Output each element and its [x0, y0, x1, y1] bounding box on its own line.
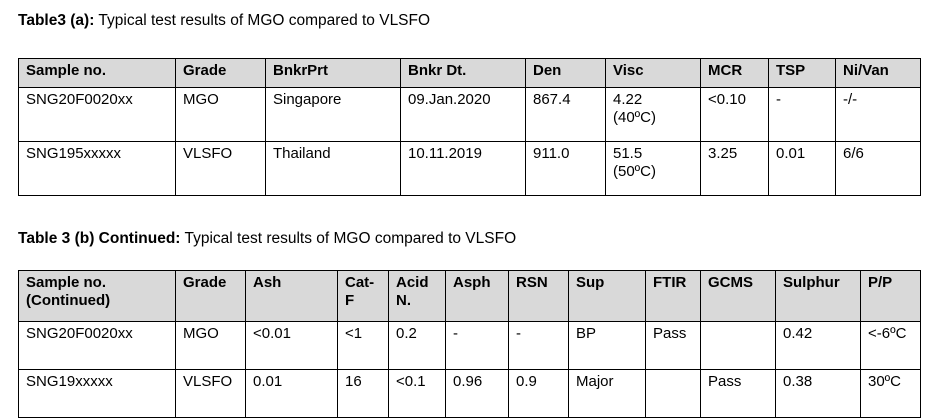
table-a-caption-text: Typical test results of MGO compared to … — [94, 12, 430, 29]
table-cell: BP — [569, 322, 646, 370]
table-cell: Major — [569, 370, 646, 418]
table-cell: 3.25 — [701, 142, 769, 196]
table-cell: 10.11.2019 — [401, 142, 526, 196]
table-cell: MGO — [176, 88, 266, 142]
table-cell: 16 — [338, 370, 389, 418]
table-b: Sample no. (Continued) Grade Ash Cat-F A… — [18, 270, 921, 418]
table-cell: Thailand — [266, 142, 401, 196]
table-cell: MGO — [176, 322, 246, 370]
table-cell: <0.1 — [389, 370, 446, 418]
table-b-header-row: Sample no. (Continued) Grade Ash Cat-F A… — [19, 271, 921, 322]
table-a: Sample no. Grade BnkrPrt Bnkr Dt. Den Vi… — [18, 58, 921, 196]
table-b-col-gcms: GCMS — [701, 271, 776, 322]
table-cell — [701, 322, 776, 370]
table-row: SNG19xxxxx VLSFO 0.01 16 <0.1 0.96 0.9 M… — [19, 370, 921, 418]
table-a-col-mcr: MCR — [701, 59, 769, 88]
table-b-col-asph: Asph — [446, 271, 509, 322]
table-cell: 0.2 — [389, 322, 446, 370]
table-cell: 911.0 — [526, 142, 606, 196]
table-cell: Singapore — [266, 88, 401, 142]
table-a-caption-label: Table3 (a): — [18, 12, 94, 29]
table-b-col-cat-f: Cat-F — [338, 271, 389, 322]
table-cell: SNG20F0020xx — [19, 322, 176, 370]
table-a-col-ni-van: Ni/Van — [836, 59, 921, 88]
table-cell: - — [446, 322, 509, 370]
table-a-header-row: Sample no. Grade BnkrPrt Bnkr Dt. Den Vi… — [19, 59, 921, 88]
table-row: SNG20F0020xx MGO Singapore 09.Jan.2020 8… — [19, 88, 921, 142]
table-cell: 0.38 — [776, 370, 861, 418]
table-cell: 0.96 — [446, 370, 509, 418]
table-cell: <0.10 — [701, 88, 769, 142]
table-cell: 30ºC — [861, 370, 921, 418]
table-b-col-sulphur: Sulphur — [776, 271, 861, 322]
table-cell: 0.01 — [769, 142, 836, 196]
table-row: SNG20F0020xx MGO <0.01 <1 0.2 - - BP Pas… — [19, 322, 921, 370]
table-cell — [646, 370, 701, 418]
table-cell: 6/6 — [836, 142, 921, 196]
table-cell: 09.Jan.2020 — [401, 88, 526, 142]
table-cell: <0.01 — [246, 322, 338, 370]
table-b-col-acid-n: Acid N. — [389, 271, 446, 322]
table-b-col-rsn: RSN — [509, 271, 569, 322]
table-cell: 867.4 — [526, 88, 606, 142]
table-cell: 0.01 — [246, 370, 338, 418]
table-cell: 0.42 — [776, 322, 861, 370]
table-b-col-ash: Ash — [246, 271, 338, 322]
table-a-col-bnkrprt: BnkrPrt — [266, 59, 401, 88]
table-cell: 51.5 (50ºC) — [606, 142, 701, 196]
table-cell: SNG195xxxxx — [19, 142, 176, 196]
table-a-col-bnkr-dt: Bnkr Dt. — [401, 59, 526, 88]
table-cell: VLSFO — [176, 370, 246, 418]
table-a-col-tsp: TSP — [769, 59, 836, 88]
table-cell: - — [769, 88, 836, 142]
table-cell: Pass — [701, 370, 776, 418]
table-a-col-den: Den — [526, 59, 606, 88]
table-a-col-sample-no: Sample no. — [19, 59, 176, 88]
table-row: SNG195xxxxx VLSFO Thailand 10.11.2019 91… — [19, 142, 921, 196]
table-b-caption: Table 3 (b) Continued: Typical test resu… — [18, 230, 516, 249]
table-a-col-grade: Grade — [176, 59, 266, 88]
table-cell: <1 — [338, 322, 389, 370]
table-b-caption-text: Typical test results of MGO compared to … — [180, 230, 516, 247]
table-cell: 0.9 — [509, 370, 569, 418]
table-cell: 4.22 (40ºC) — [606, 88, 701, 142]
table-cell: - — [509, 322, 569, 370]
document-page: Table3 (a): Typical test results of MGO … — [0, 0, 935, 418]
table-b-col-ftir: FTIR — [646, 271, 701, 322]
table-b-col-grade: Grade — [176, 271, 246, 322]
table-cell: Pass — [646, 322, 701, 370]
table-cell: VLSFO — [176, 142, 266, 196]
table-cell: SNG20F0020xx — [19, 88, 176, 142]
table-cell: SNG19xxxxx — [19, 370, 176, 418]
table-b-col-sup: Sup — [569, 271, 646, 322]
table-a-col-visc: Visc — [606, 59, 701, 88]
table-cell: <-6ºC — [861, 322, 921, 370]
table-b-col-p-p: P/P — [861, 271, 921, 322]
table-b-col-sample-no-continued: Sample no. (Continued) — [19, 271, 176, 322]
table-a-caption: Table3 (a): Typical test results of MGO … — [18, 12, 430, 31]
table-b-caption-label: Table 3 (b) Continued: — [18, 230, 180, 247]
table-cell: -/- — [836, 88, 921, 142]
